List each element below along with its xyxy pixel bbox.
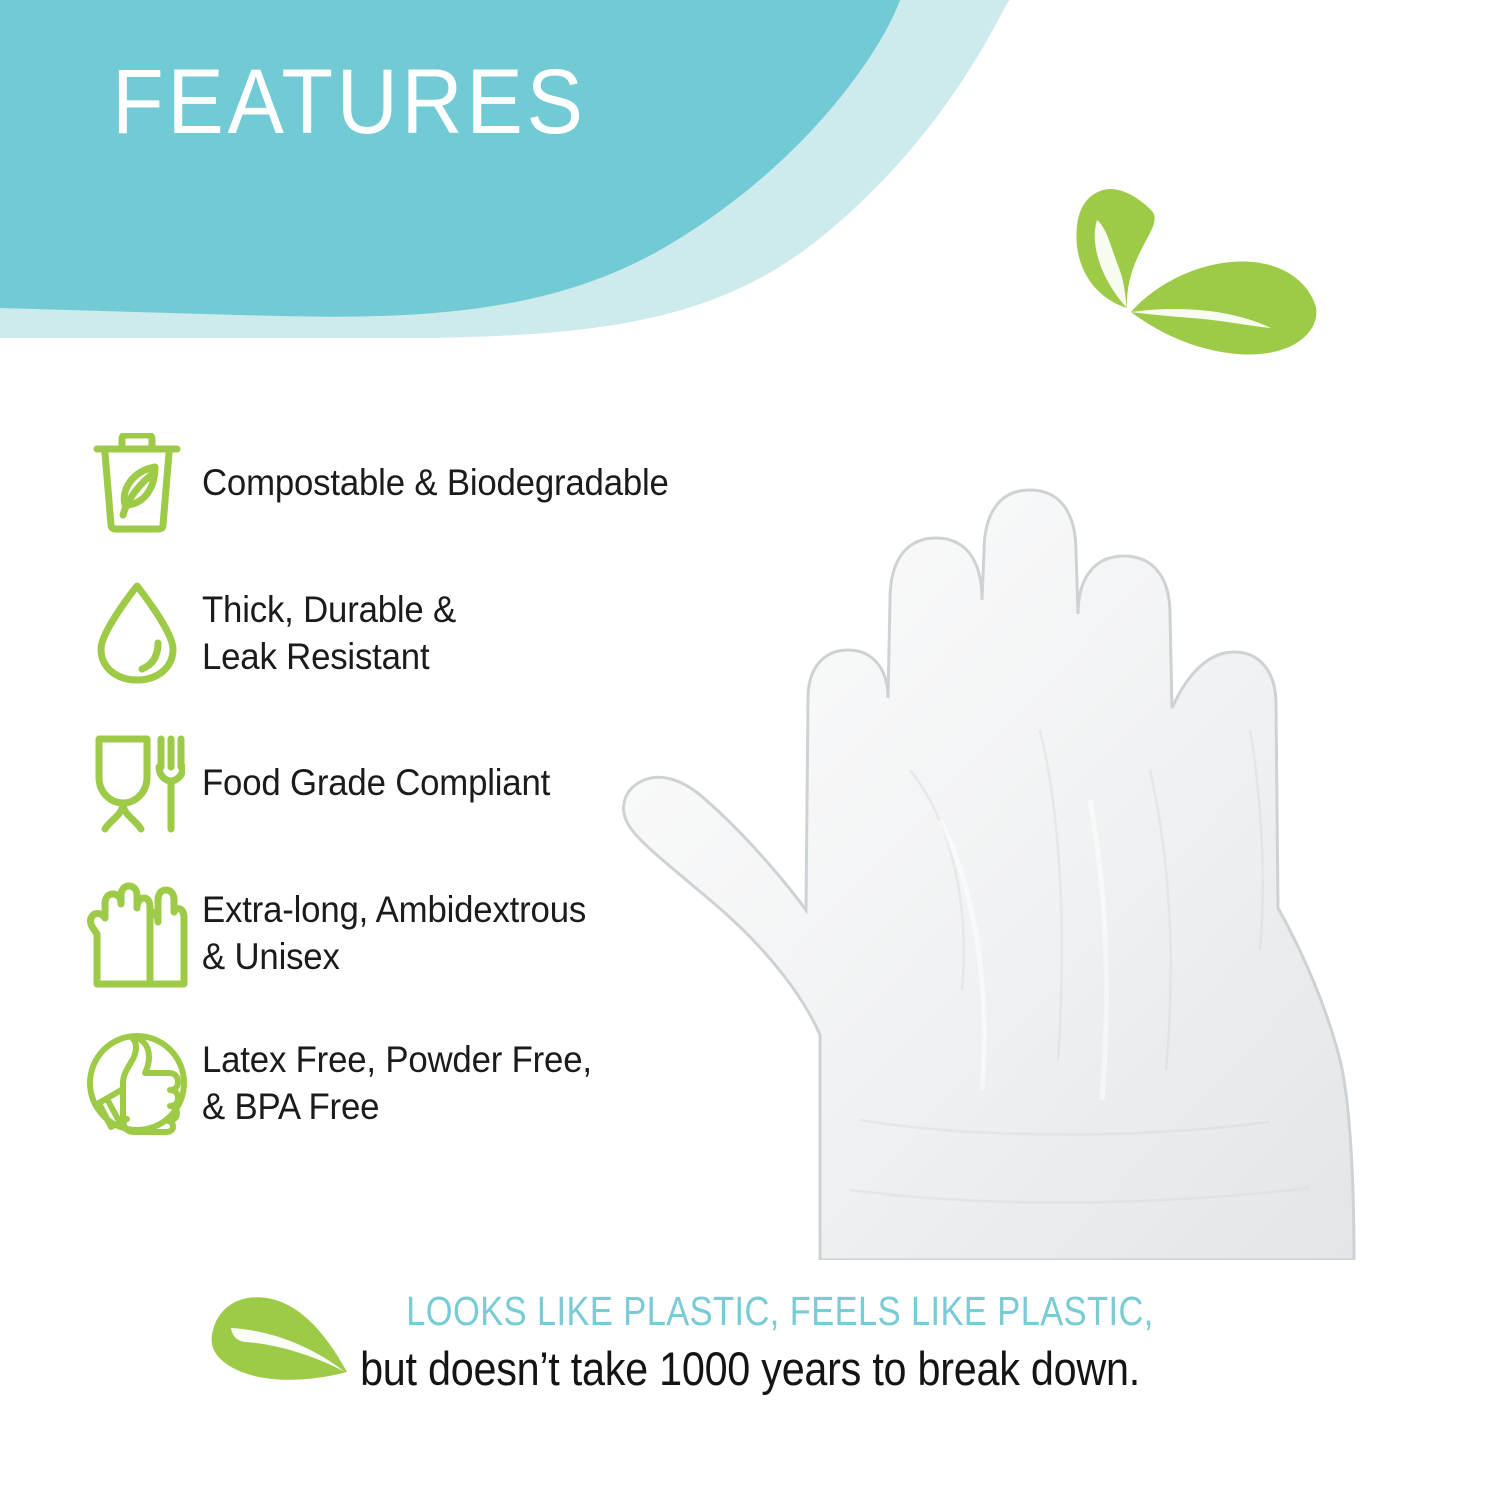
water-droplet-icon <box>72 573 202 693</box>
feature-item: Thick, Durable & Leak Resistant <box>72 558 772 708</box>
page-title: FEATURES <box>112 56 587 148</box>
feature-label: Food Grade Compliant <box>202 759 550 806</box>
pair-of-gloves-icon <box>72 873 202 993</box>
tagline-line-1: LOOKS LIKE PLASTIC, FEELS LIKE PLASTIC, <box>175 1288 1385 1335</box>
feature-label: Thick, Durable & Leak Resistant <box>202 586 456 681</box>
feature-label: Compostable & Biodegradable <box>202 459 669 506</box>
feature-label: Latex Free, Powder Free, & BPA Free <box>202 1036 592 1131</box>
thumbs-up-circle-icon <box>72 1023 202 1143</box>
feature-item: Latex Free, Powder Free, & BPA Free <box>72 1008 772 1158</box>
feature-item: Compostable & Biodegradable <box>72 408 772 558</box>
feature-label: Extra-long, Ambidextrous & Unisex <box>202 886 586 981</box>
feature-item: Extra-long, Ambidextrous & Unisex <box>72 858 772 1008</box>
feature-list: Compostable & Biodegradable Thick, Durab… <box>72 408 772 1158</box>
features-infographic: FEATURES <box>0 0 1500 1500</box>
food-grade-glass-fork-icon <box>72 723 202 843</box>
compost-bin-leaf-icon <box>72 423 202 543</box>
tagline-line-2: but doesn’t take 1000 years to break dow… <box>90 1341 1410 1397</box>
tagline-block: LOOKS LIKE PLASTIC, FEELS LIKE PLASTIC, … <box>0 1288 1500 1398</box>
feature-item: Food Grade Compliant <box>72 708 772 858</box>
